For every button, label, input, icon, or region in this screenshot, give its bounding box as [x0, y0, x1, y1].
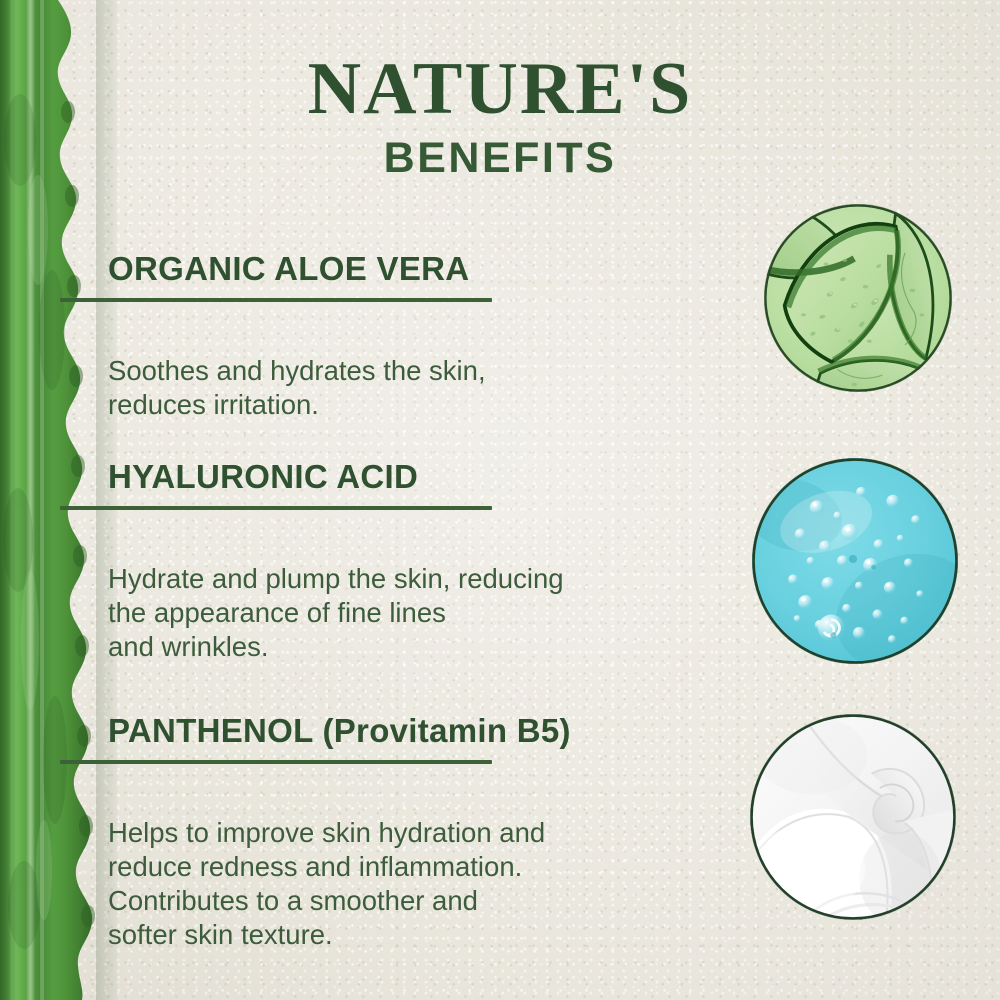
benefit-heading: HYALURONIC ACID	[108, 458, 748, 496]
benefit-underline-rule	[60, 506, 492, 510]
blue-gel-bubbles-swatch	[752, 458, 958, 664]
benefit-heading: ORGANIC ALOE VERA	[108, 250, 748, 288]
benefit-item-panthenol: PANTHENOL (Provitamin B5) Helps to impro…	[108, 712, 748, 952]
benefit-item-organic-aloe-vera: ORGANIC ALOE VERA Soothes and hydrates t…	[108, 250, 748, 422]
benefit-description: Hydrate and plump the skin, reducing the…	[108, 562, 748, 664]
benefit-underline-rule	[60, 760, 492, 764]
page-title-sub: BENEFITS	[0, 132, 1000, 184]
aloe-vera-slices-swatch	[764, 204, 952, 392]
benefit-description: Helps to improve skin hydration and redu…	[108, 816, 748, 952]
benefit-heading: PANTHENOL (Provitamin B5)	[108, 712, 748, 750]
benefit-item-hyaluronic-acid: HYALURONIC ACID Hydrate and plump the sk…	[108, 458, 748, 664]
white-cream-texture-swatch	[750, 714, 956, 920]
nature-benefits-poster: NATURE'S BENEFITS ORGANIC ALOE VERA Soot…	[0, 0, 1000, 1000]
page-title-main: NATURE'S	[0, 52, 1000, 126]
benefit-description: Soothes and hydrates the skin, reduces i…	[108, 354, 748, 422]
benefit-underline-rule	[60, 298, 492, 302]
page-title-block: NATURE'S BENEFITS	[0, 52, 1000, 184]
